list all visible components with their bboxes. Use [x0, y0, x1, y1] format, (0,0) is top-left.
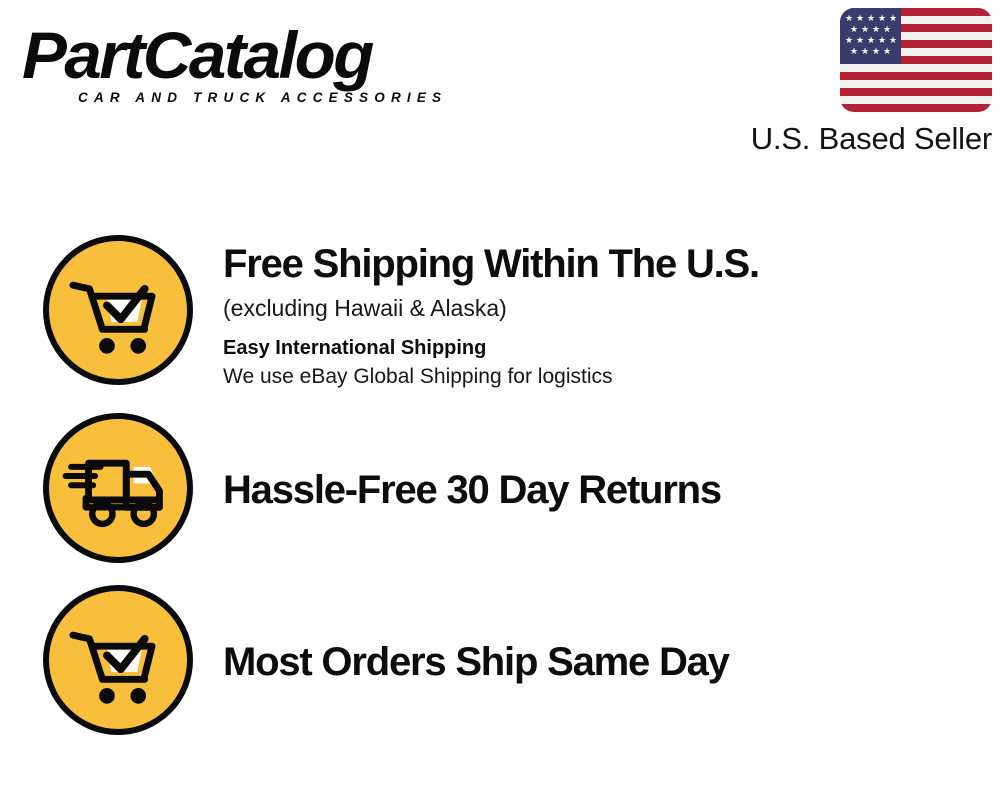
us-flag-icon: ★ ★ ★ ★ ★ ★ ★ ★ ★ ★ ★ ★ ★ ★ ★ ★ ★ ★	[840, 8, 992, 112]
feature-subtitle-strong: Easy International Shipping	[223, 335, 1000, 361]
feature-subtitle-detail: We use eBay Global Shipping for logistic…	[223, 363, 1000, 391]
feature-title: Free Shipping Within The U.S.	[223, 241, 1000, 287]
promo-banner: PartCatalog CAR AND TRUCK ACCESSORIES ★ …	[0, 0, 1000, 800]
feature-text: Hassle-Free 30 Day Returns	[223, 413, 1000, 513]
brand-wordmark: PartCatalog	[22, 22, 501, 88]
feature-title: Most Orders Ship Same Day	[223, 639, 1000, 685]
us-based-seller-label: U.S. Based Seller	[722, 121, 992, 157]
delivery-truck-icon	[43, 413, 193, 563]
feature-title: Hassle-Free 30 Day Returns	[223, 467, 1000, 513]
feature-row: Free Shipping Within The U.S. (excluding…	[0, 235, 1000, 391]
us-based-seller-block: ★ ★ ★ ★ ★ ★ ★ ★ ★ ★ ★ ★ ★ ★ ★ ★ ★ ★ U.S.…	[722, 8, 992, 157]
shopping-cart-check-icon	[43, 585, 193, 735]
feature-text: Free Shipping Within The U.S. (excluding…	[223, 235, 1000, 391]
feature-row: Most Orders Ship Same Day	[0, 585, 1000, 735]
feature-text: Most Orders Ship Same Day	[223, 585, 1000, 685]
shopping-cart-check-icon	[43, 235, 193, 385]
feature-row: Hassle-Free 30 Day Returns	[0, 413, 1000, 563]
part-catalog-logo: PartCatalog CAR AND TRUCK ACCESSORIES	[22, 22, 492, 114]
feature-subtitle: (excluding Hawaii & Alaska)	[223, 293, 1000, 323]
brand-tagline: CAR AND TRUCK ACCESSORIES	[78, 90, 492, 105]
